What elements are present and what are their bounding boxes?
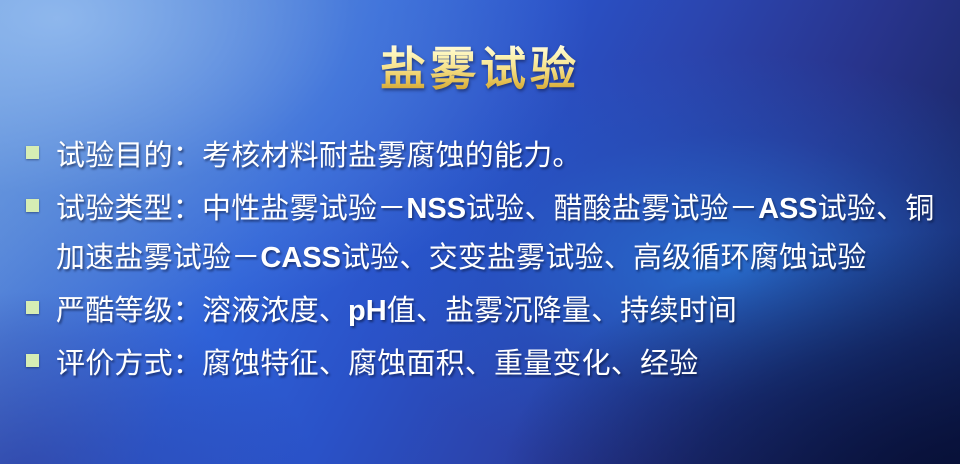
square-bullet-icon — [26, 199, 39, 212]
list-item-severity-level: 严酷等级：溶液浓度、pH值、盐雾沉降量、持续时间 — [26, 287, 946, 336]
bullet-text-evaluation-method: 评价方式：腐蚀特征、腐蚀面积、重量变化、经验 — [56, 340, 946, 389]
list-item-test-types: 试验类型：中性盐雾试验－NSS试验、醋酸盐雾试验－ASS试验、铜加速盐雾试验－C… — [26, 185, 946, 283]
slide-content: 盐雾试验 试验目的：考核材料耐盐雾腐蚀的能力。 试验类型：中性盐雾试验－NSS试… — [0, 0, 960, 464]
bullet-text-test-purpose: 试验目的：考核材料耐盐雾腐蚀的能力。 — [56, 132, 946, 181]
bullet-text-severity-level: 严酷等级：溶液浓度、pH值、盐雾沉降量、持续时间 — [56, 287, 946, 336]
page-title: 盐雾试验 — [380, 44, 580, 96]
list-item-test-purpose: 试验目的：考核材料耐盐雾腐蚀的能力。 — [26, 132, 946, 181]
list-item-evaluation-method: 评价方式：腐蚀特征、腐蚀面积、重量变化、经验 — [26, 340, 946, 389]
square-bullet-icon — [26, 354, 39, 367]
square-bullet-icon — [26, 146, 39, 159]
presentation-slide: 盐雾试验 试验目的：考核材料耐盐雾腐蚀的能力。 试验类型：中性盐雾试验－NSS试… — [0, 0, 960, 464]
square-bullet-icon — [26, 301, 39, 314]
bullet-text-test-types: 试验类型：中性盐雾试验－NSS试验、醋酸盐雾试验－ASS试验、铜加速盐雾试验－C… — [56, 185, 936, 283]
bullet-list: 试验目的：考核材料耐盐雾腐蚀的能力。 试验类型：中性盐雾试验－NSS试验、醋酸盐… — [0, 132, 960, 389]
slide-title-container: 盐雾试验 — [0, 0, 960, 126]
